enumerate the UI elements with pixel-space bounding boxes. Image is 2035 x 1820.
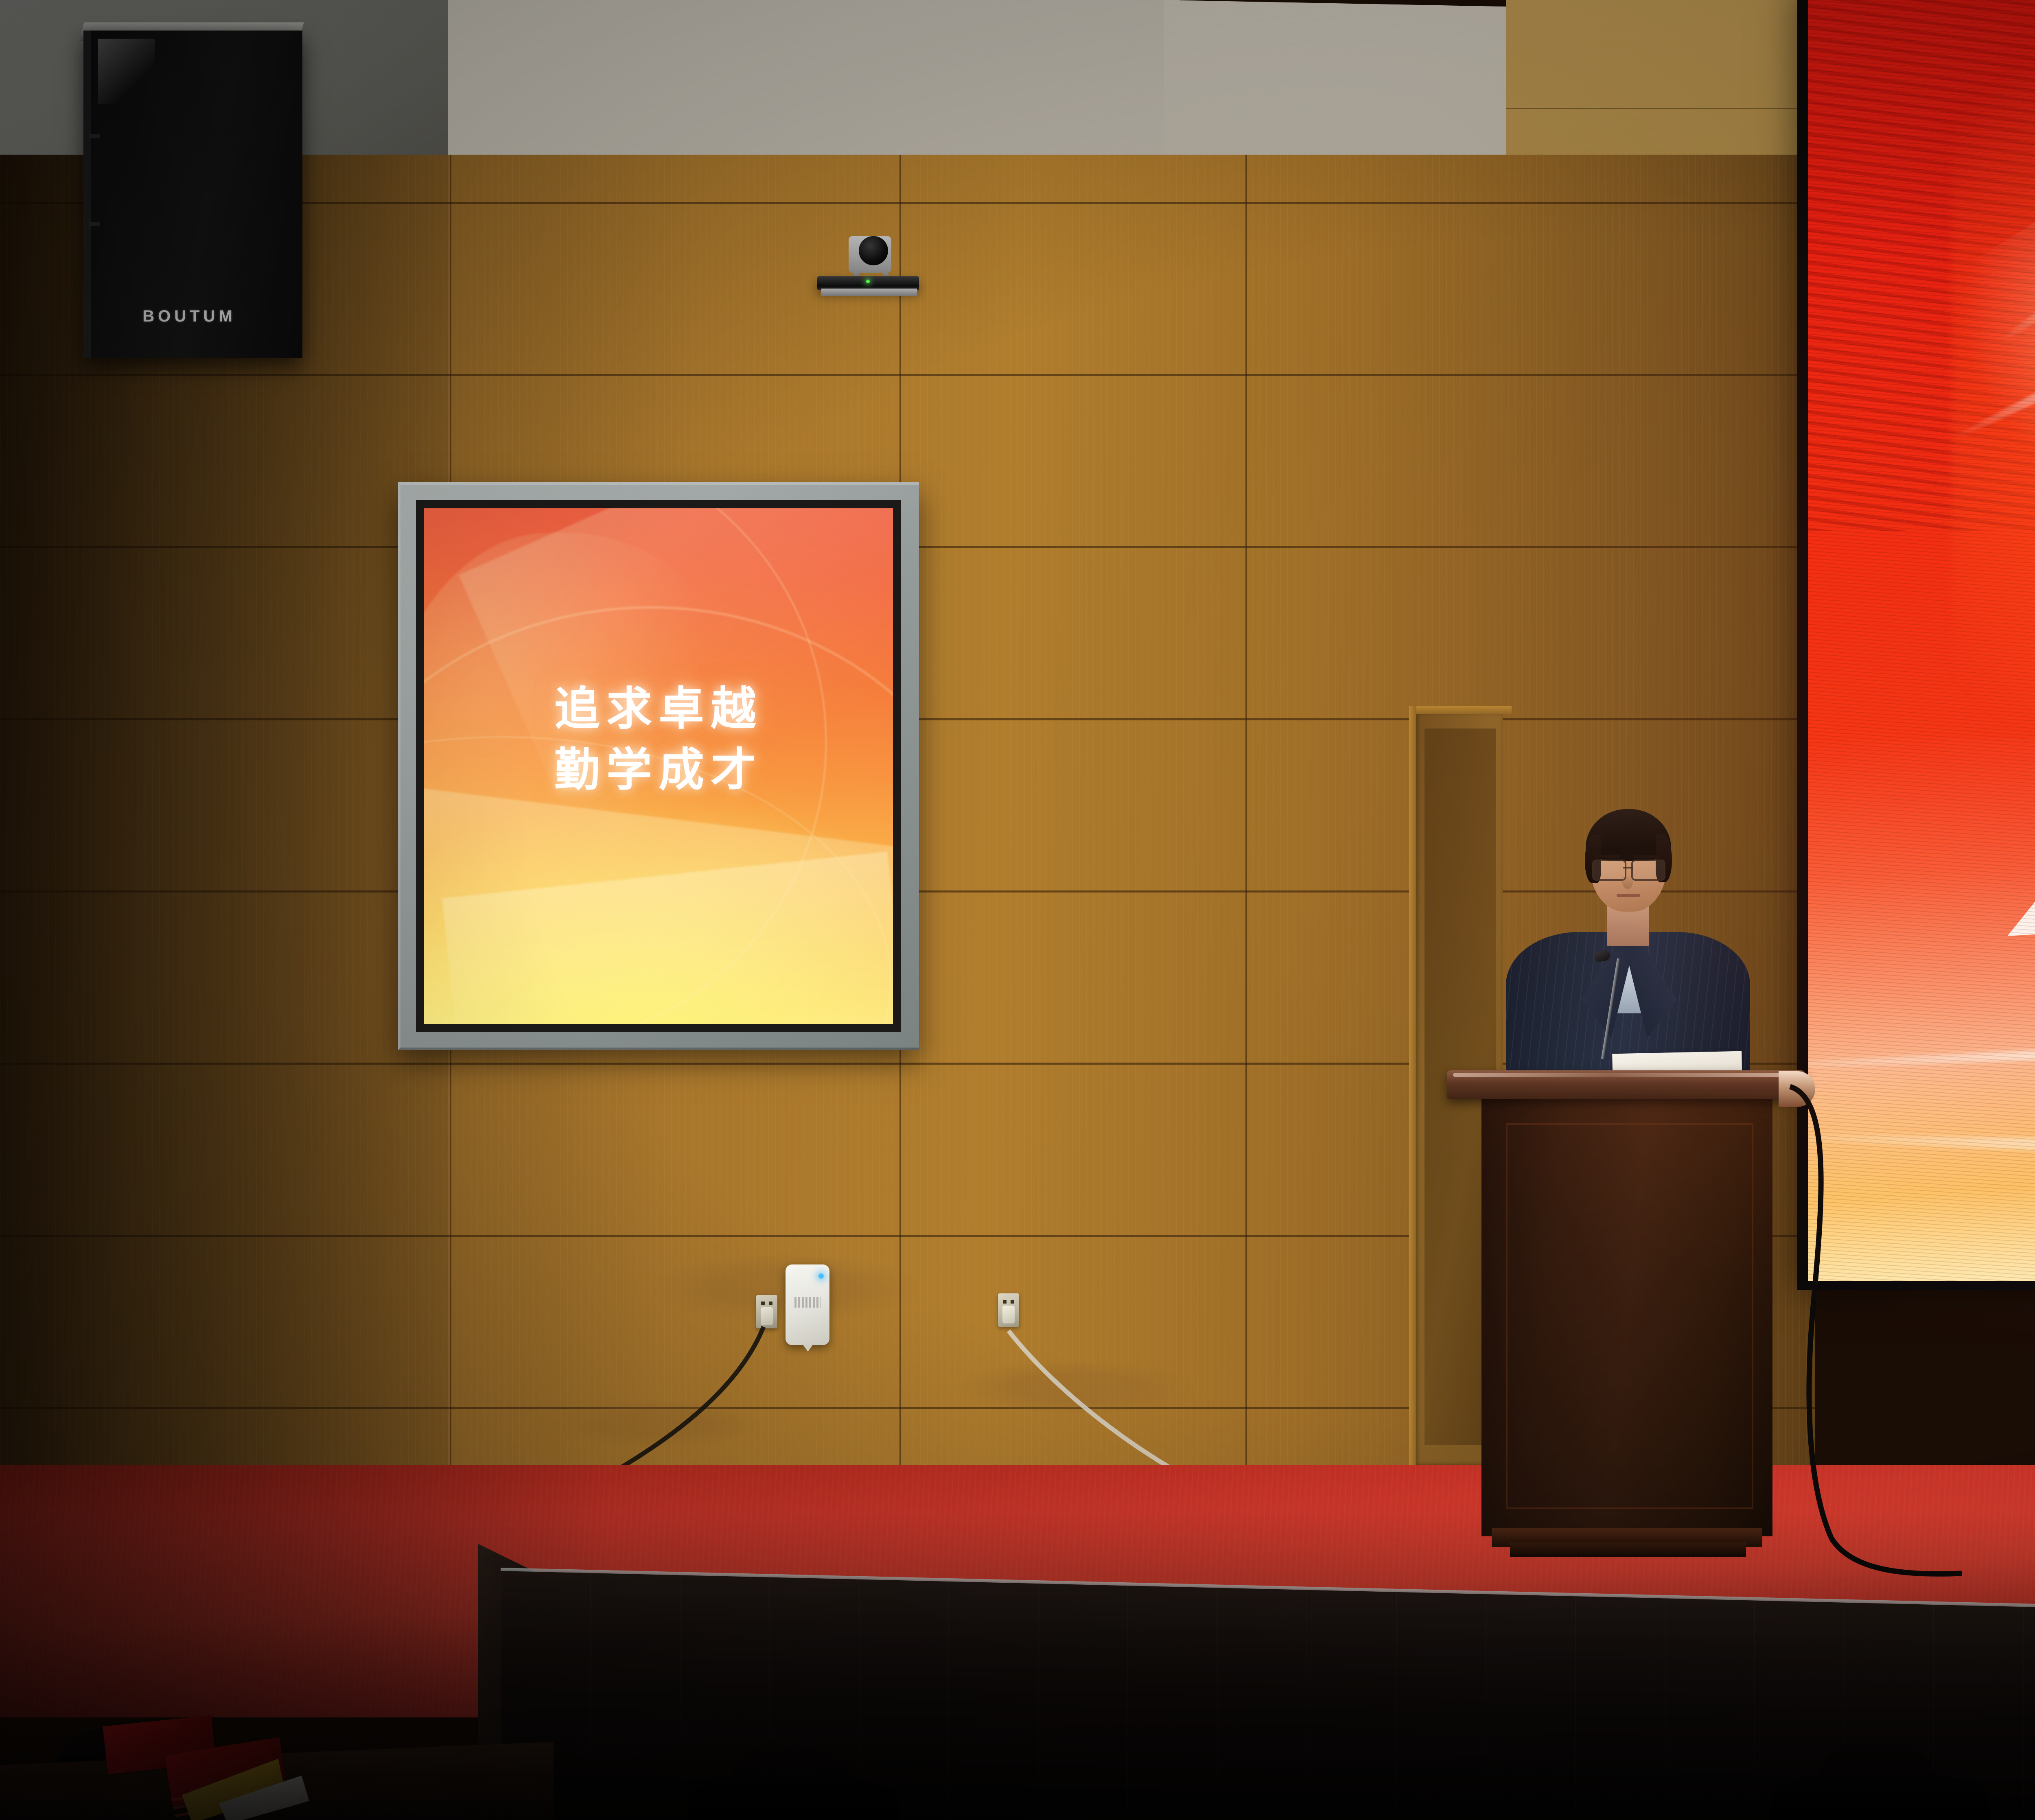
eyeglasses-lens-right: [1631, 860, 1665, 881]
pa-speaker-rib: [89, 222, 100, 226]
camera-bracket-plate: [821, 289, 917, 296]
pa-speaker-rib: [89, 134, 100, 138]
audience-shoulders: [688, 1773, 899, 1820]
eyebrow-left: [1595, 855, 1620, 858]
slide-text-block: 追求卓越 勤学成才: [424, 678, 893, 801]
wall-seam: [1245, 155, 1247, 1579]
camera-status-led-icon: [866, 280, 870, 283]
audience-shoulders: [1770, 1771, 1990, 1820]
outlet-prongs-icon: [761, 1302, 772, 1305]
auditorium-photo: BOUTUM 追求卓越 勤学成才: [0, 0, 2035, 1820]
led-scanline-texture: [1808, 0, 2035, 1281]
outlet-prongs-icon: [1003, 1300, 1014, 1304]
podium-top-highlight: [1453, 1073, 1799, 1077]
power-outlet-right[interactable]: [998, 1293, 1019, 1327]
power-outlet-left[interactable]: [756, 1295, 777, 1328]
pa-speaker-highlight: [98, 39, 155, 104]
projection-screen-bezel: 追求卓越 勤学成才: [416, 500, 901, 1032]
podium-foot: [1510, 1542, 1746, 1557]
door-frame-top: [1409, 706, 1512, 714]
outlet-plug-icon: [1002, 1306, 1015, 1323]
projection-screen-surface: 追求卓越 勤学成才: [424, 508, 893, 1024]
camera-bracket: [817, 276, 919, 290]
slide-line-1: 追求卓越: [424, 678, 893, 739]
eyeglasses-lens-left: [1592, 860, 1626, 881]
led-video-wall-screen: 仪器科学 新生见: [1808, 0, 2035, 1281]
podium-right-cap: [1779, 1071, 1815, 1107]
eyebrow-right: [1634, 855, 1659, 858]
podium-front-panel: [1506, 1123, 1753, 1509]
wifi-access-point[interactable]: [786, 1264, 829, 1345]
camera-lens-icon: [859, 236, 888, 265]
wall-left-shadow: [0, 155, 448, 1579]
outlet-plug-icon: [761, 1307, 773, 1325]
mouth: [1617, 894, 1640, 897]
wifi-label-icon: [794, 1297, 821, 1308]
eyeglasses-bridge: [1623, 867, 1633, 868]
nose: [1622, 875, 1633, 889]
pa-speaker-brand-label: BOUTUM: [83, 307, 295, 326]
led-video-wall-bezel: 仪器科学 新生见: [1797, 0, 2035, 1290]
slide-line-2: 勤学成才: [424, 739, 893, 801]
door-jamb: [1409, 706, 1416, 1465]
wifi-status-led-icon: [818, 1273, 824, 1279]
speaker-person: [1502, 810, 1754, 1103]
projection-screen-frame: 追求卓越 勤学成才: [398, 482, 919, 1050]
